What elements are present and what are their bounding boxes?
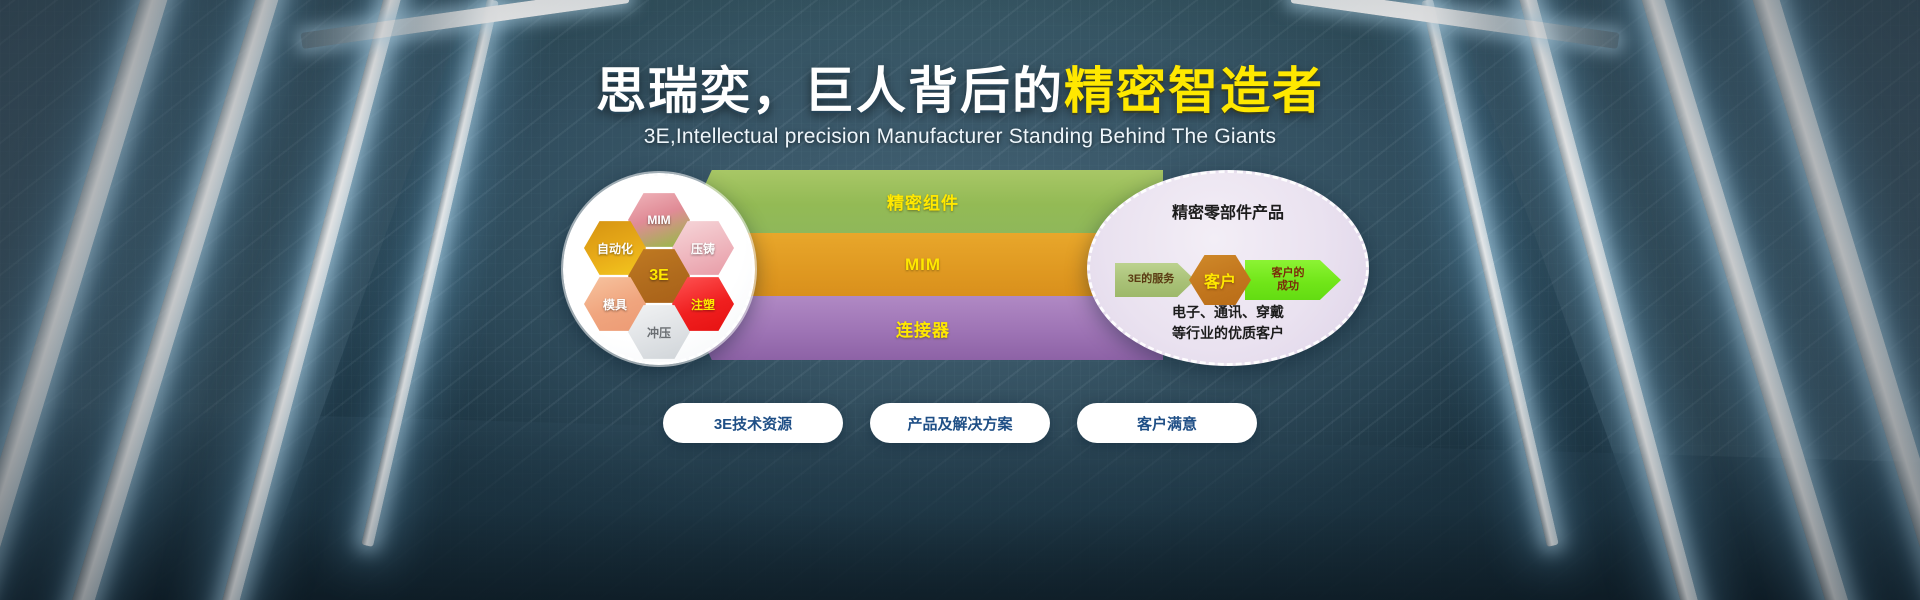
cta-pill-row: 3E技术资源 产品及解决方案 客户满意 <box>0 403 1920 443</box>
band-label: 精密组件 <box>887 189 959 214</box>
flow-label-line1: 客户的 <box>1272 267 1305 279</box>
flow-label-line2: 成功 <box>1277 280 1299 292</box>
headline-block: 思瑞奕，巨人背后的精密智造者 3E,Intellectual precision… <box>0 66 1920 149</box>
flow-label: 3E的服务 <box>1128 273 1174 286</box>
pill-label: 客户满意 <box>1137 413 1197 434</box>
title-plain-text: 思瑞奕，巨人背后的 <box>596 63 1064 119</box>
title-highlight-text: 精密智造者 <box>1064 63 1324 119</box>
hexagon-label: 压铸 <box>691 240 715 257</box>
pill-tech-resources[interactable]: 3E技术资源 <box>663 403 843 443</box>
customer-panel: 精密零部件产品 3E的服务 客户 客户的成功 电子、通讯、穿戴 等行业的优质客户 <box>1087 170 1369 366</box>
flow-label: 客户的成功 <box>1272 267 1305 293</box>
hero-banner: 思瑞奕，巨人背后的精密智造者 3E,Intellectual precision… <box>0 0 1920 600</box>
band-label: 连接器 <box>896 316 950 341</box>
customer-panel-title: 精密零部件产品 <box>1090 199 1366 223</box>
capability-diagram: 精密组件 MIM 连接器 MIM 自动化 压铸 3E <box>563 170 1363 360</box>
hexagon-group: MIM 自动化 压铸 3E 模具 注塑 冲压 <box>566 176 752 362</box>
page-subtitle: 3E,Intellectual precision Manufacturer S… <box>0 125 1920 149</box>
page-title: 思瑞奕，巨人背后的精密智造者 <box>0 66 1920 116</box>
pill-label: 产品及解决方案 <box>907 413 1012 434</box>
pill-label: 3E技术资源 <box>714 413 792 434</box>
customer-flow: 3E的服务 客户 客户的成功 <box>1090 257 1366 303</box>
hexagon-label: 自动化 <box>597 240 633 257</box>
flow-chevron-success: 客户的成功 <box>1245 260 1341 300</box>
hexagon-label: 客户 <box>1204 268 1236 292</box>
hexagon-label: 模具 <box>603 296 627 313</box>
pill-products-solutions[interactable]: 产品及解决方案 <box>870 403 1050 443</box>
flow-chevron-service: 3E的服务 <box>1115 263 1195 297</box>
band-label: MIM <box>905 255 941 275</box>
hexagon-cluster: MIM 自动化 压铸 3E 模具 注塑 冲压 <box>563 173 755 365</box>
customer-panel-description: 电子、通讯、穿戴 等行业的优质客户 <box>1090 302 1366 343</box>
hexagon-label: MIM <box>647 213 670 227</box>
hexagon-customer: 客户 <box>1189 254 1251 306</box>
pill-customer-satisfaction[interactable]: 客户满意 <box>1077 403 1257 443</box>
description-line-2: 等行业的优质客户 <box>1172 325 1284 341</box>
hexagon-label: 3E <box>649 267 669 285</box>
description-line-1: 电子、通讯、穿戴 <box>1172 304 1284 320</box>
hexagon-label: 注塑 <box>691 296 715 313</box>
hexagon-label: 冲压 <box>647 324 671 341</box>
